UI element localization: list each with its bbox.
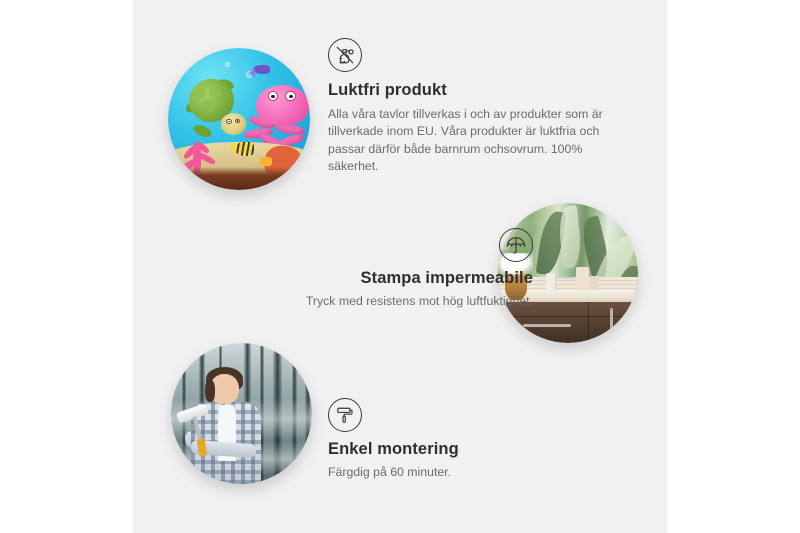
feature-description: Tryck med resistens mot hög luftfuktighe… [193,293,533,310]
feature-title: Enkel montering [328,440,628,460]
fish-tail-icon [229,141,235,153]
fish-yellow-striped [235,142,254,156]
ocean-seabed [168,167,310,190]
bathroom-bottle [590,276,598,291]
turtle-head [221,113,246,135]
fish-purple [253,65,270,74]
feature-title: Luktfri produkt [328,81,628,101]
umbrella-icon [499,228,533,262]
octopus-head [256,85,308,126]
paint-roller-icon [328,398,362,432]
feature-odour-free: Luktfri produkt Alla våra tavlor tillver… [328,38,628,176]
feature-easy-mounting: Enkel montering Färgdig på 60 minuter. [328,398,628,481]
fish-orange [259,157,272,166]
person-hair [205,380,215,403]
icon-wrapper [193,228,533,262]
bathroom-bottle [576,267,589,291]
person-head [210,374,238,404]
fish-tail-icon [249,68,255,78]
feature-waterproof: Stampa impermeabile Tryck med resistens … [193,228,533,310]
feature-description: Alla våra tavlor tillverkas i och av pro… [328,106,628,176]
feature-description: Färgdig på 60 minuter. [328,464,628,481]
feature-title: Stampa impermeabile [193,269,533,289]
photo-forest-mural [171,343,312,484]
bathroom-bottle [546,273,556,291]
bubble-icon [225,62,230,67]
photo-ocean-mural [168,48,310,190]
content-panel: Luktfri produkt Alla våra tavlor tillver… [133,0,667,533]
no-odour-spray-bottle-icon [328,38,362,72]
screenshot-canvas: Luktfri produkt Alla våra tavlor tillver… [0,0,800,533]
